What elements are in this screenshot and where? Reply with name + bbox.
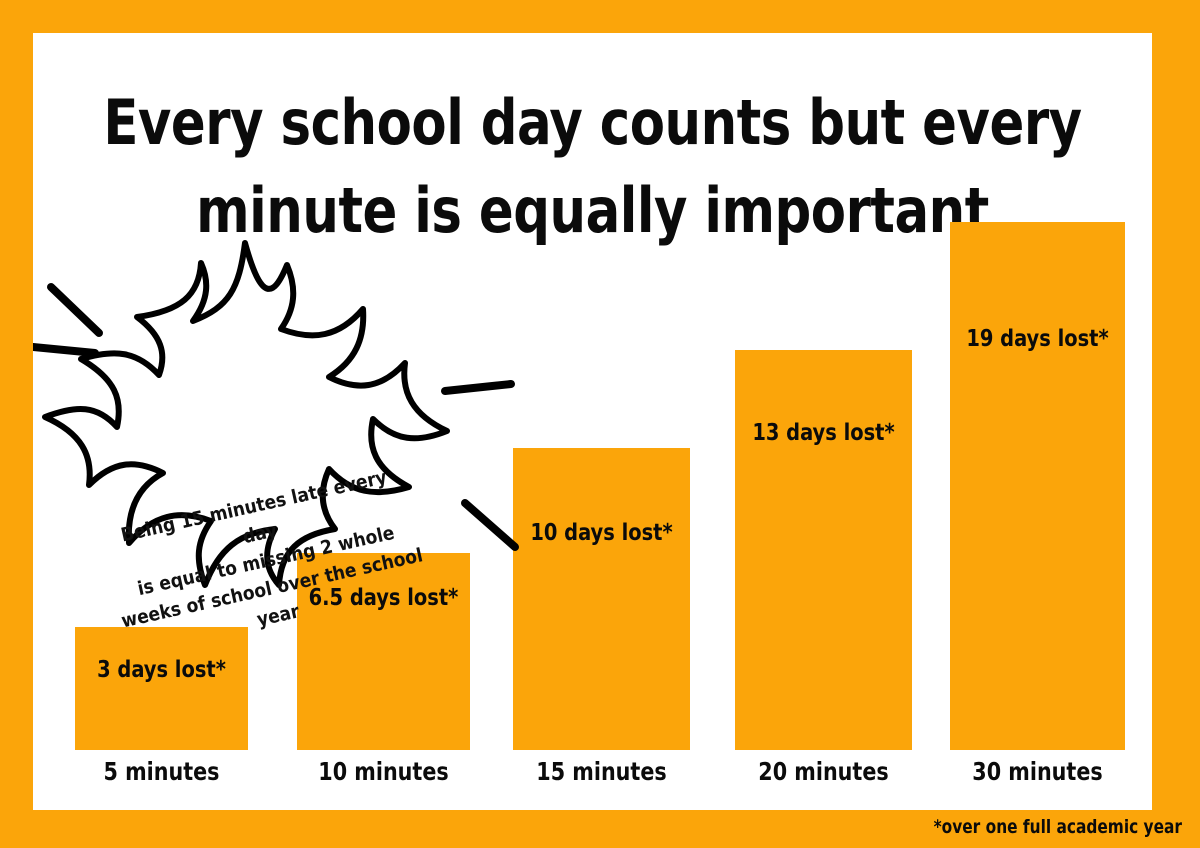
motion-line-icon [51, 287, 99, 333]
x-tick-10-minutes: 10 minutes [304, 757, 463, 786]
bar-value-label: 13 days lost* [740, 420, 906, 446]
bar-value-label: 19 days lost* [955, 326, 1120, 352]
x-tick-20-minutes: 20 minutes [742, 757, 905, 786]
bar-20-minutes: 13 days lost* [735, 350, 912, 750]
motion-line-icon [445, 384, 511, 391]
x-tick-5-minutes: 5 minutes [82, 757, 241, 786]
bar-value-label: 3 days lost* [80, 657, 243, 683]
bar-30-minutes: 19 days lost* [950, 222, 1125, 750]
footnote: *over one full academic year [934, 816, 1182, 838]
motion-line-icon [33, 347, 95, 353]
x-tick-30-minutes: 30 minutes [957, 757, 1118, 786]
poster-root: Every school day counts but every minute… [0, 0, 1200, 848]
x-tick-15-minutes: 15 minutes [520, 757, 683, 786]
poster-canvas: Every school day counts but every minute… [33, 33, 1152, 810]
motion-line-icon [465, 503, 515, 547]
starburst-callout: Being 15 minutes late every day is equal… [33, 229, 553, 589]
